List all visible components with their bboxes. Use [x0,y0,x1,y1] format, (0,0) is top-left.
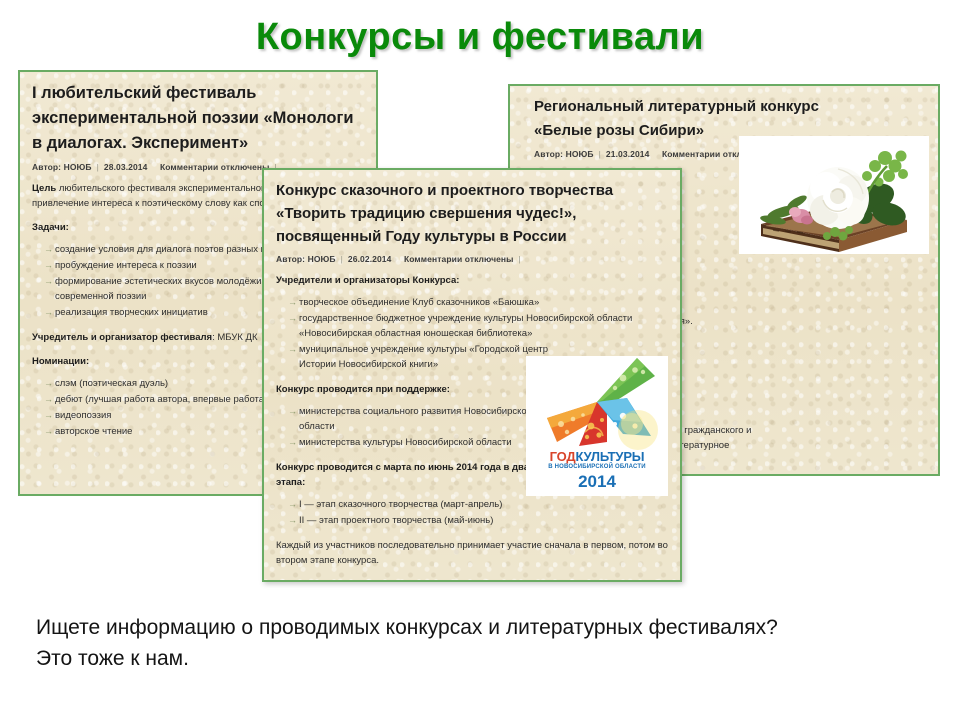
card-festival-purpose-lead: Цель [32,183,56,194]
list-item: министерства социального развития Новоси… [288,404,554,434]
card-fairytale-footer: Каждый из участников последовательно при… [276,538,672,568]
card-festival-date: 28.03.2014 [104,162,148,172]
card-festival-comments: Комментарии отключены [160,162,270,172]
card-roses-date: 21.03.2014 [606,149,650,159]
logo-year: 2014 [526,472,668,492]
card-fairytale-stages-head: Конкурс проводится с марта по июнь 2014 … [276,460,531,490]
card-fairytale-title: Конкурс сказочного и проектного творчест… [276,179,672,248]
list-item: I — этап сказочного творчества (март-апр… [288,497,672,512]
card-festival-founder-head: Учредитель и организатор фестиваля [32,332,212,343]
pinwheel-icon [526,358,668,450]
card-festival-title: I любительский фестиваль экспериментальн… [32,81,368,156]
card-fairytale-founders-head: Учредители и организаторы Конкурса: [276,273,672,288]
meta-separator [391,254,403,264]
card-fairytale-comments: Комментарии отключены [404,254,514,264]
logo-word-god: ГОД [550,449,576,464]
card-fairytale-date: 26.02.2014 [348,254,392,264]
card-fairytale-meta: Автор: НОЮБ|26.02.2014 Комментарии отклю… [276,254,672,264]
page-title: Конкурсы и фестивали [0,14,960,60]
logo-word-kultury: КУЛЬТУРЫ [575,449,644,464]
meta-separator [147,162,159,172]
card-fairytale-stages-list: I — этап сказочного творчества (март-апр… [276,497,672,528]
meta-separator: | [336,254,348,264]
card-roses-author: Автор: НОЮБ [534,149,594,159]
year-of-culture-logo: ГОДКУЛЬТУРЫ В НОВОСИБИРСКОЙ ОБЛАСТИ 2014 [526,356,668,496]
card-festival-founder-text: : МБУК ДК [212,332,257,343]
meta-separator [649,149,661,159]
meta-separator: | [514,254,526,264]
slide-caption: Ищете информацию о проводимых конкурсах … [36,612,926,674]
card-fairytale-author: Автор: НОЮБ [276,254,336,264]
list-item: муниципальное учреждение культуры «Город… [288,342,554,372]
card-contest-fairytale[interactable]: Конкурс сказочного и проектного творчест… [262,168,682,582]
caption-line-2: Это тоже к нам. [36,643,926,674]
meta-separator: | [594,149,606,159]
white-rose-on-book-image [739,136,929,254]
logo-wordmark: ГОДКУЛЬТУРЫ [526,449,668,464]
list-item: творческое объединение Клуб сказочников … [288,295,672,310]
list-item: II — этап проектного творчества (май-июн… [288,513,672,528]
card-festival-author: Автор: НОЮБ [32,162,92,172]
list-item: государственное бюджетное учреждение кул… [288,311,672,341]
meta-separator: | [92,162,104,172]
caption-line-1: Ищете информацию о проводимых конкурсах … [36,612,926,643]
logo-subtitle: В НОВОСИБИРСКОЙ ОБЛАСТИ [526,464,668,470]
